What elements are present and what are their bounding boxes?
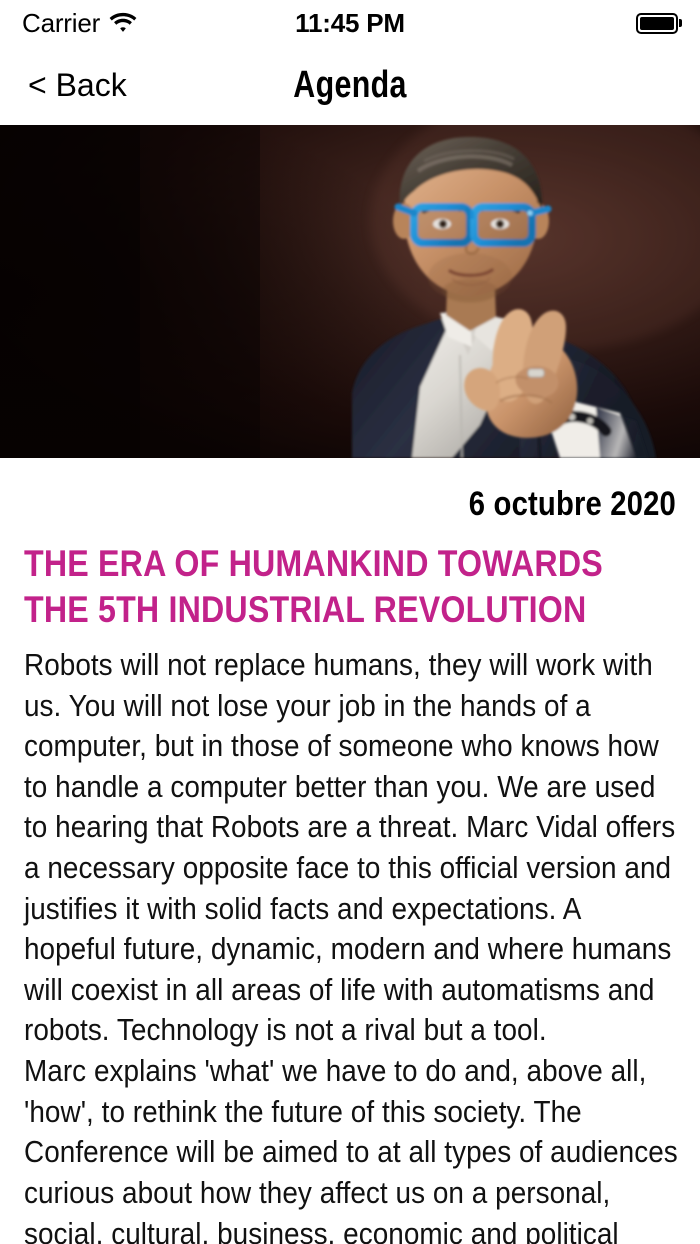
battery-level-fill — [640, 17, 674, 30]
carrier-label: Carrier — [22, 8, 100, 39]
status-bar: Carrier 11:45 PM — [0, 0, 700, 46]
blue-glasses — [398, 207, 548, 243]
phone-screen: Carrier 11:45 PM < Back Agenda — [0, 0, 700, 1244]
status-bar-left: Carrier — [22, 8, 137, 39]
wifi-icon — [109, 12, 137, 34]
hero-image — [0, 125, 700, 458]
status-bar-right — [636, 13, 678, 34]
event-date: 6 octubre 2020 — [115, 485, 676, 524]
event-paragraph-2: Marc explains 'what' we have to do and, … — [24, 1051, 678, 1244]
battery-cap — [679, 19, 682, 27]
battery-full-icon — [636, 13, 678, 34]
event-title: THE ERA OF HUMANKIND TOWARDS THE 5TH IND… — [24, 541, 676, 632]
speaker-portrait — [0, 125, 700, 458]
navigation-bar: < Back Agenda — [0, 46, 700, 125]
back-button[interactable]: < Back — [0, 67, 127, 104]
article-content: 6 octubre 2020 THE ERA OF HUMANKIND TOWA… — [0, 485, 700, 1244]
event-description: Robots will not replace humans, they wil… — [24, 645, 678, 1244]
event-paragraph-1: Robots will not replace humans, they wil… — [24, 645, 678, 1051]
page-title: Agenda — [70, 64, 630, 107]
